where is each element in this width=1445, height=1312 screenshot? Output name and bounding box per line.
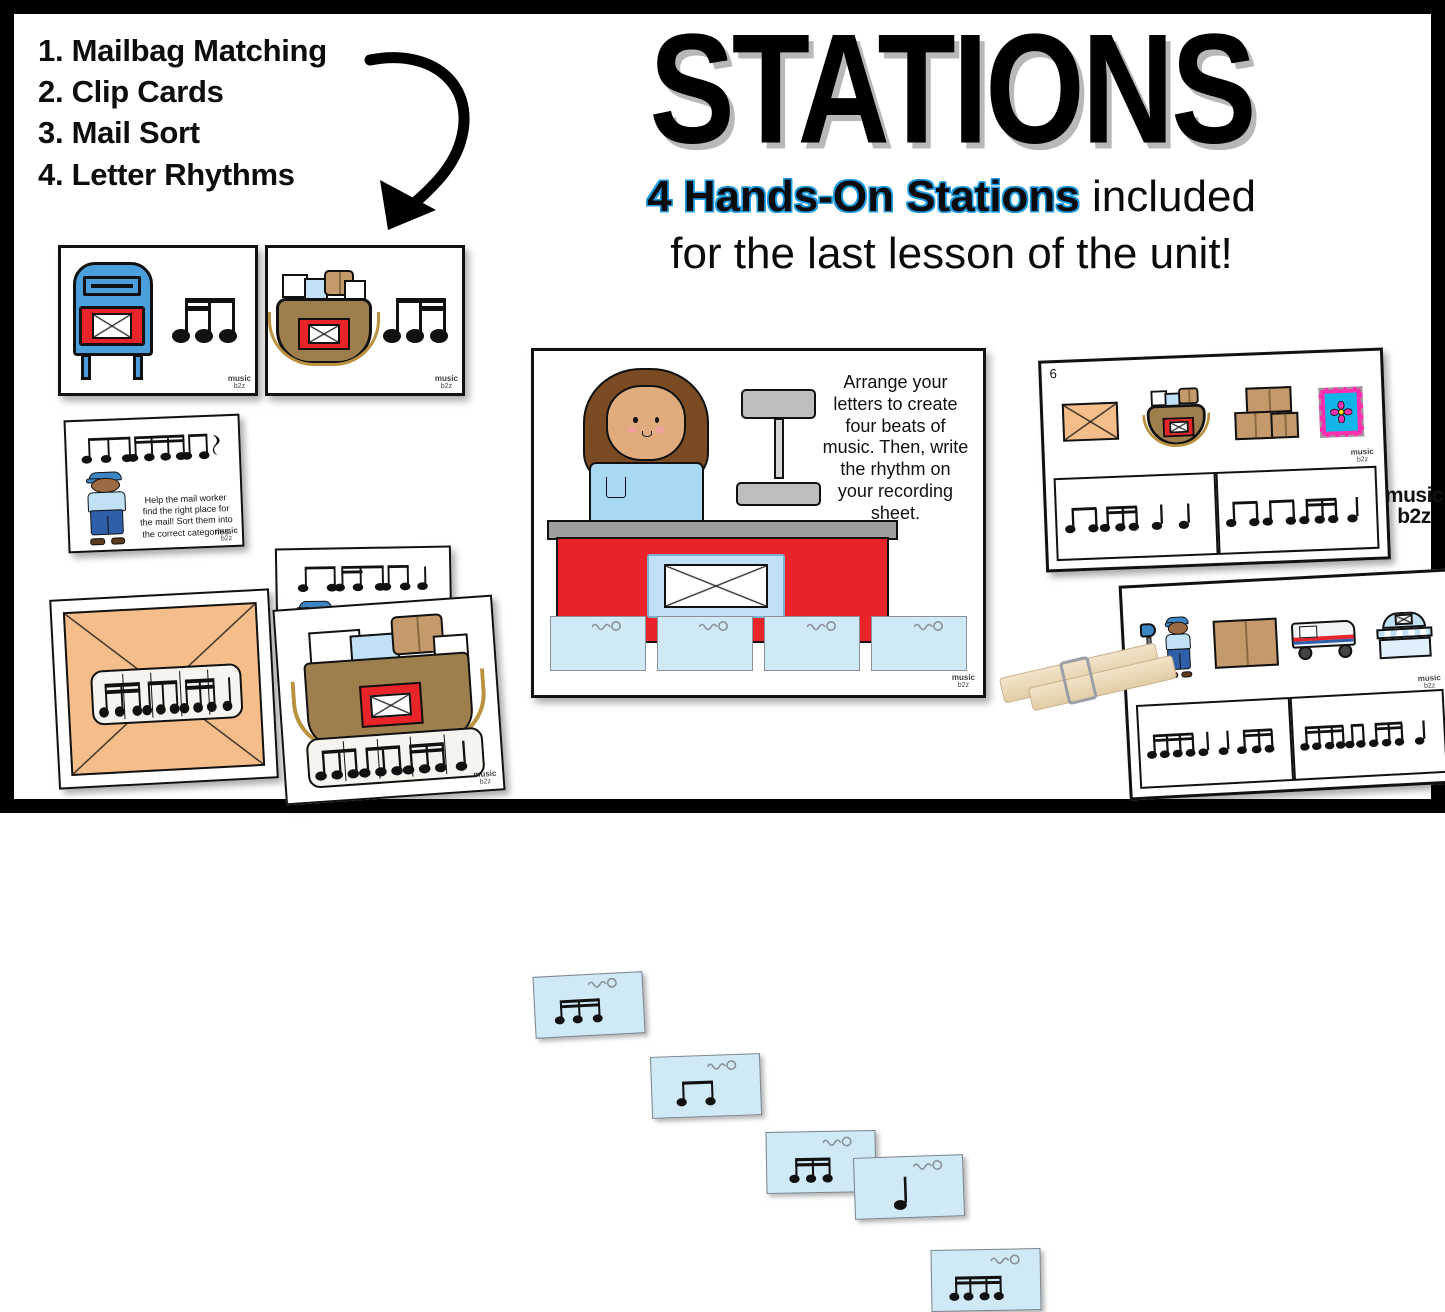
rhythm-box[interactable] — [1054, 472, 1218, 561]
station-list-item-3: 3. Mail Sort — [38, 112, 418, 153]
letter-slot[interactable] — [657, 616, 753, 671]
mailbag-icon — [1141, 385, 1212, 452]
mailbag-matching-card-mailbox[interactable]: musicb2z — [58, 245, 258, 396]
station-instructions: Arrange your letters to create four beat… — [821, 372, 969, 526]
letter-tile[interactable] — [650, 1053, 762, 1119]
subtitle-rest: included — [1080, 172, 1256, 221]
mailbag-icon — [268, 268, 380, 374]
letter-slot[interactable] — [550, 616, 646, 671]
subtitle-line-2: for the last lesson of the unit! — [464, 230, 1439, 278]
flower-stamp-icon — [1318, 386, 1364, 438]
letter-tile[interactable] — [532, 971, 645, 1039]
mail-sort-card-mailbag[interactable]: musicb2z — [272, 595, 505, 806]
station-list-item-1: 1. Mailbag Matching — [38, 30, 418, 71]
station-list: 1. Mailbag Matching 2. Clip Cards 3. Mai… — [38, 30, 418, 195]
brand-logo: music b2z — [1366, 484, 1445, 529]
sorting-card-6[interactable]: 6 — [1038, 347, 1391, 572]
headline-block: STATIONS 4 Hands-On Stations included fo… — [464, 14, 1439, 278]
rhythm-box[interactable] — [1290, 689, 1445, 781]
mailbox-illustration — [61, 248, 166, 393]
postal-clerk-icon — [574, 368, 718, 519]
letter-slot[interactable] — [871, 616, 967, 671]
counter-envelope-icon — [647, 554, 785, 618]
watermark: musicb2z — [228, 375, 251, 390]
clip-card-1[interactable]: Help the mail worker find the right plac… — [64, 414, 245, 554]
letter-slot-row — [550, 616, 968, 671]
mail-truck-icon — [1291, 617, 1363, 661]
rhythm-box[interactable] — [1215, 466, 1379, 555]
stacked-boxes-icon — [1233, 386, 1299, 444]
page-title: STATIONS — [464, 18, 1439, 162]
letter-rhythms-station-card[interactable]: Arrange your letters to create four beat… — [531, 348, 986, 698]
watermark: musicb2z — [952, 674, 975, 689]
rhythm-eighth-two-sixteenths — [380, 292, 462, 350]
watermark: musicb2z — [473, 770, 497, 787]
mailbag-matching-card-mailbag[interactable]: musicb2z — [265, 245, 465, 396]
letter-tile[interactable] — [930, 1248, 1041, 1312]
rhythm-box[interactable] — [1136, 697, 1294, 789]
rhythm-strip[interactable] — [89, 663, 243, 727]
post-office-building-icon — [1376, 610, 1434, 659]
subtitle-highlight: 4 Hands-On Stations — [647, 172, 1080, 221]
mailbox-icon — [69, 262, 157, 380]
parcel-box-icon — [1212, 617, 1278, 668]
mail-sort-card-envelope[interactable] — [49, 588, 279, 789]
postal-scale-icon — [736, 389, 821, 506]
watermark: musicb2z — [1418, 674, 1442, 690]
mailbag-illustration — [268, 248, 380, 393]
subtitle-line-1: 4 Hands-On Stations included — [464, 174, 1439, 220]
envelope-icon — [1062, 401, 1119, 441]
watermark: musicb2z — [435, 375, 458, 390]
clip-card-rhythm-line — [80, 429, 226, 468]
station-list-item-4: 4. Letter Rhythms — [38, 154, 418, 195]
mail-worker-girl-icon — [76, 469, 137, 546]
station-list-item-2: 2. Clip Cards — [38, 71, 418, 112]
letter-tile[interactable] — [853, 1154, 965, 1220]
clip-card-rhythm-line — [291, 561, 436, 597]
letter-slot[interactable] — [764, 616, 860, 671]
rhythm-row — [1054, 466, 1379, 561]
promo-poster: 1. Mailbag Matching 2. Clip Cards 3. Mai… — [0, 0, 1445, 813]
picture-row — [1050, 359, 1376, 474]
watermark: musicb2z — [215, 527, 239, 543]
rhythm-two-sixteenths-eighth — [166, 292, 255, 350]
rhythm-row — [1136, 689, 1445, 789]
watermark: musicb2z — [1351, 448, 1375, 464]
